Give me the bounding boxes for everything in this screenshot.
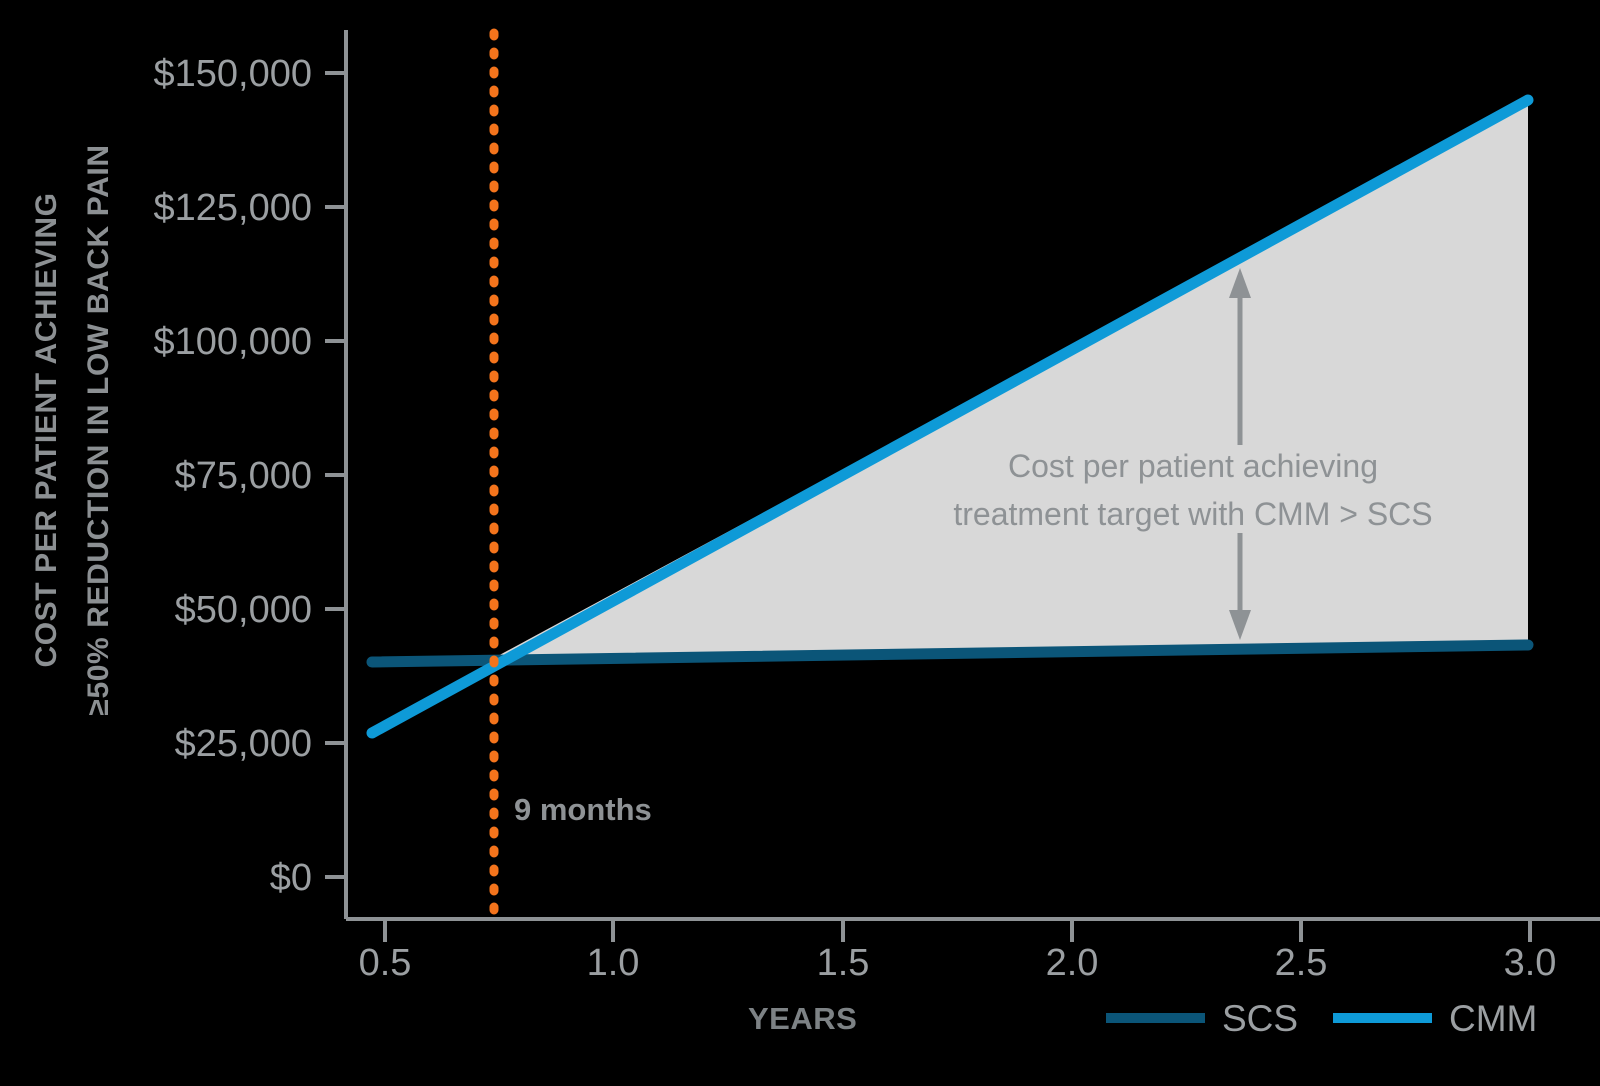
ytick-label-75000: $75,000	[175, 455, 312, 497]
xtick-label-1.0: 1.0	[587, 942, 640, 984]
ytick-label-100000: $100,000	[154, 321, 313, 363]
cost-effectiveness-line-chart: $150,000 $125,000 $100,000 $75,000 $50,0…	[0, 0, 1600, 1086]
gap-callout-line1: Cost per patient achieving	[1008, 448, 1378, 484]
gap-callout-line2: treatment target with CMM > SCS	[953, 496, 1432, 532]
legend-label-scs: SCS	[1222, 998, 1298, 1039]
y-axis-title-line1: COST PER PATIENT ACHIEVING	[30, 192, 63, 667]
legend: SCS CMM	[1106, 998, 1537, 1039]
ytick-label-0: $0	[270, 857, 312, 899]
xtick-label-1.5: 1.5	[817, 942, 870, 984]
ytick-label-50000: $50,000	[175, 589, 312, 631]
y-axis-title-line2: ≥50% REDUCTION IN LOW BACK PAIN	[82, 144, 115, 715]
xtick-label-2.5: 2.5	[1275, 942, 1328, 984]
legend-label-cmm: CMM	[1449, 998, 1537, 1039]
ytick-label-25000: $25,000	[175, 723, 312, 765]
x-axis-ticks	[385, 919, 1530, 942]
legend-item-scs[interactable]: SCS	[1106, 998, 1298, 1039]
ytick-label-150000: $150,000	[154, 53, 313, 95]
ytick-label-125000: $125,000	[154, 187, 313, 229]
xtick-label-3.0: 3.0	[1504, 942, 1557, 984]
xtick-label-0.5: 0.5	[359, 942, 412, 984]
crossover-marker-label: 9 months	[514, 792, 652, 827]
chart-container: $150,000 $125,000 $100,000 $75,000 $50,0…	[0, 0, 1600, 1086]
legend-item-cmm[interactable]: CMM	[1333, 998, 1537, 1039]
xtick-label-2.0: 2.0	[1046, 942, 1099, 984]
x-axis-title: YEARS	[748, 1001, 857, 1036]
y-axis-ticks	[325, 73, 346, 877]
